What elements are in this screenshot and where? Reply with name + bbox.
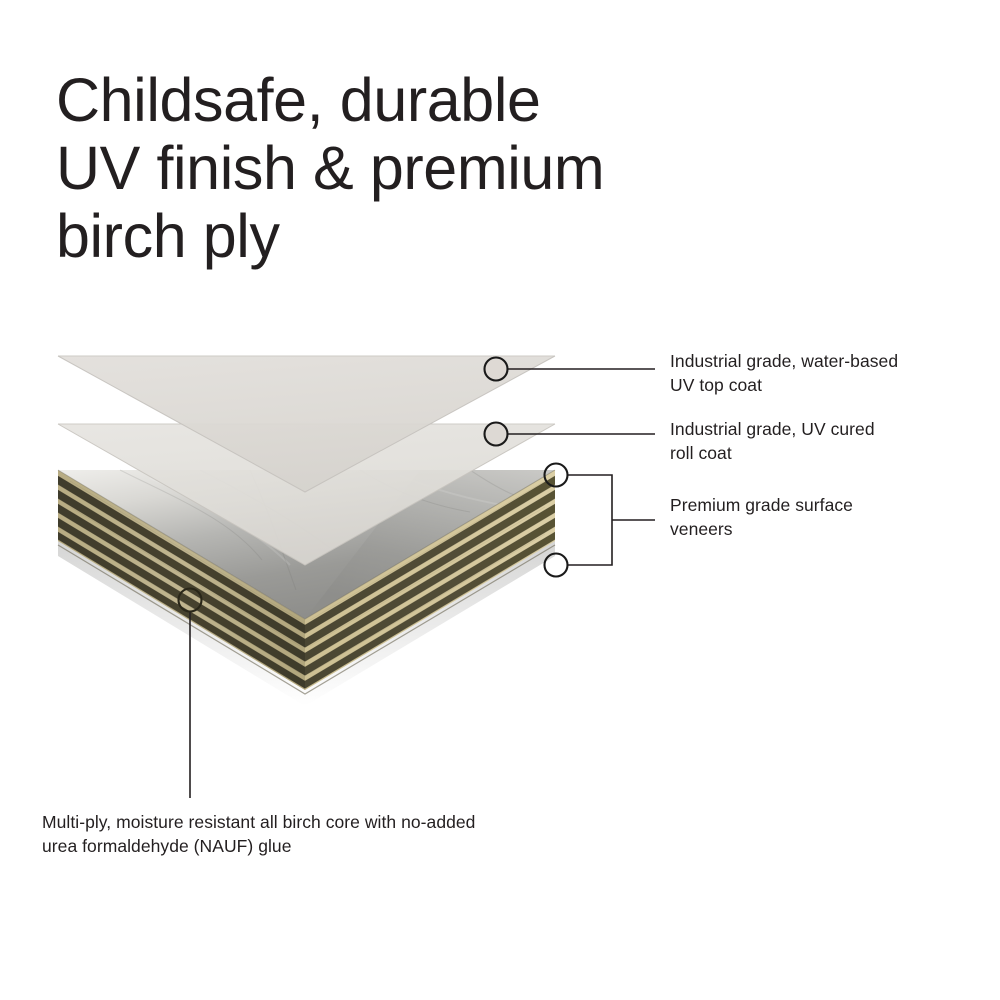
- coating-sheet-roll-coat: [58, 424, 555, 565]
- coating-sheet-top-coat: [58, 356, 555, 492]
- panel-ply-edge: [58, 470, 555, 700]
- callout-label-uv-roll-coat: Industrial grade, UV cured roll coat: [670, 417, 970, 465]
- callout-label-surface-veneers: Premium grade surface veneers: [670, 493, 960, 541]
- callout-marker-uv-roll-coat[interactable]: [485, 423, 656, 446]
- callout-label-uv-top-coat: Industrial grade, water-based UV top coa…: [670, 349, 970, 397]
- diagram-canvas: Childsafe, durable UV finish & premium b…: [0, 0, 1000, 1000]
- panel-shadow: [58, 541, 555, 706]
- callout-marker-birch-core[interactable]: [179, 589, 202, 799]
- callout-marker-uv-top-coat[interactable]: [485, 358, 656, 381]
- page-title: Childsafe, durable UV finish & premium b…: [56, 66, 816, 270]
- panel-top-face: [58, 470, 555, 619]
- callout-label-birch-core: Multi-ply, moisture resistant all birch …: [42, 810, 662, 858]
- callout-marker-surface-veneers[interactable]: [545, 464, 656, 577]
